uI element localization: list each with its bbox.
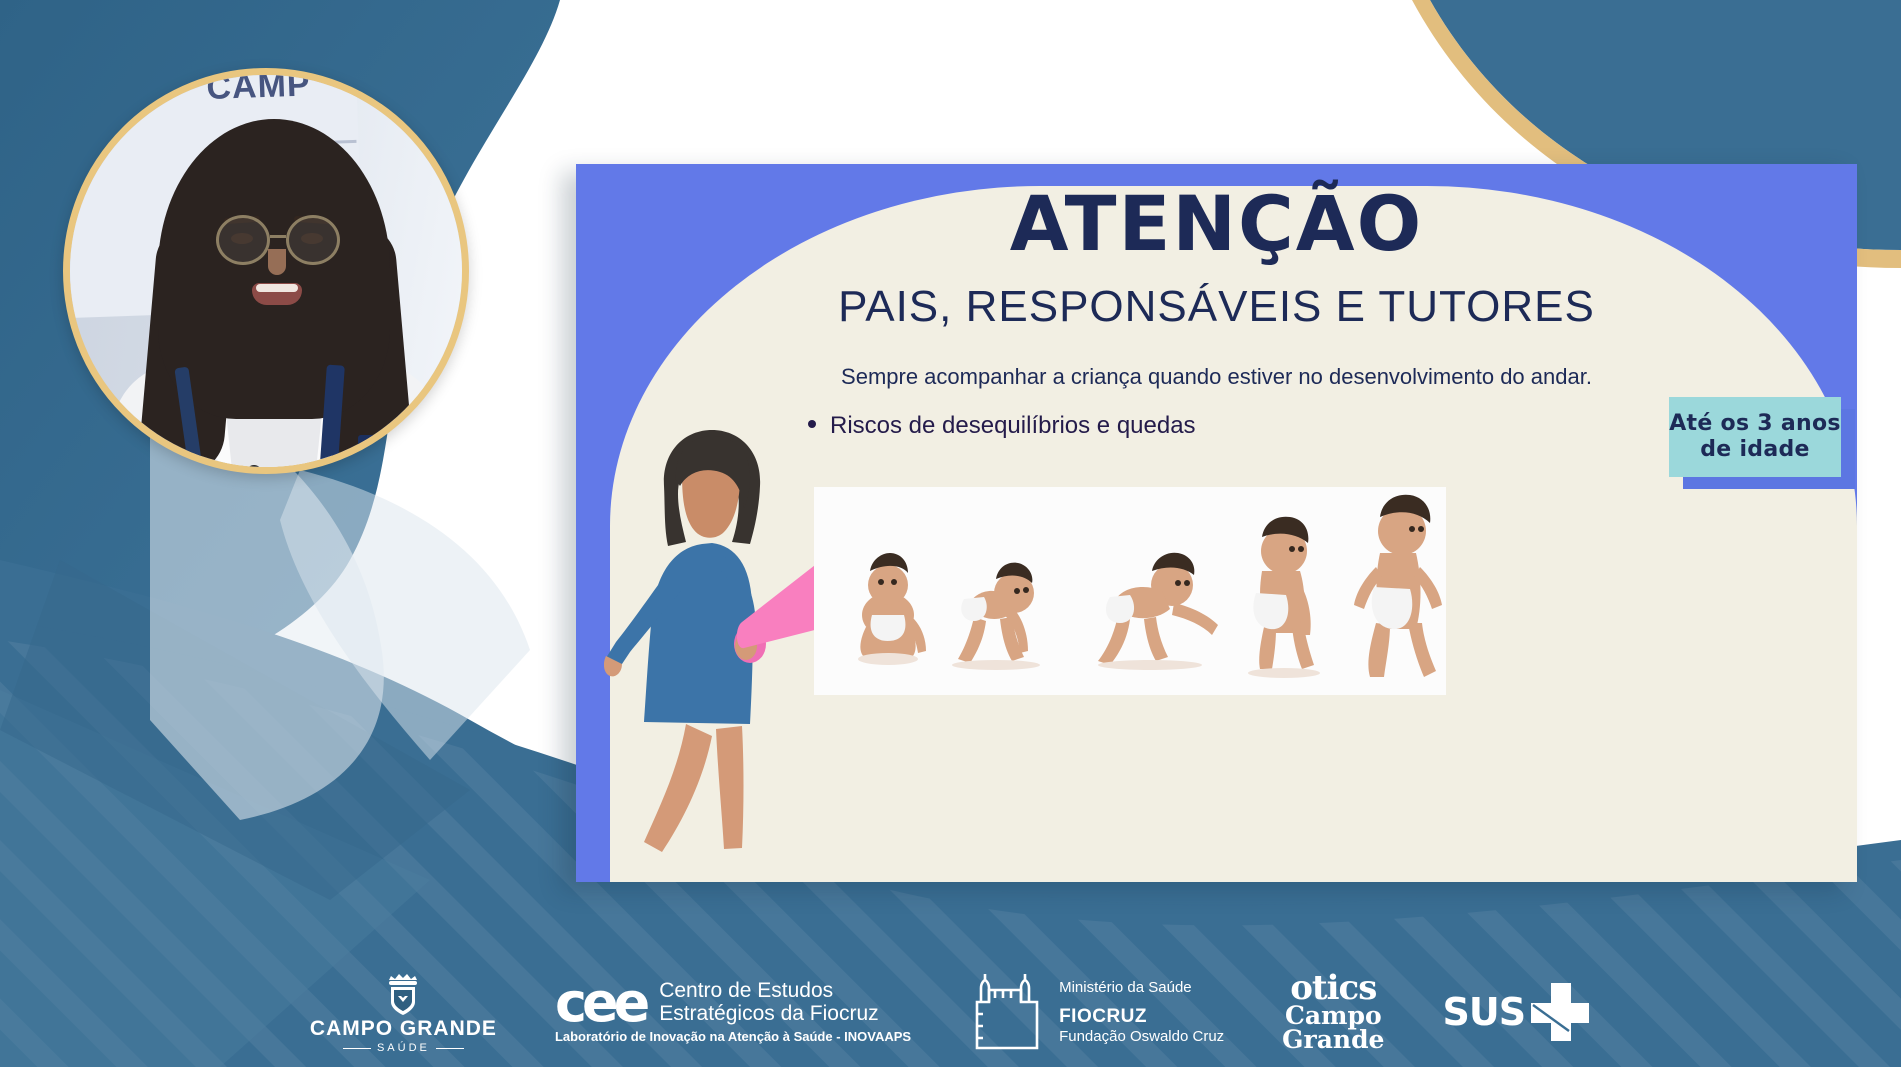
presentation-slide[interactable]: ATENÇÃO PAIS, RESPONSÁVEIS E TUTORES Sem… bbox=[576, 164, 1857, 882]
logo-otics-campo-grande: otics Campo Grande bbox=[1282, 972, 1384, 1052]
slide-body-text: Sempre acompanhar a criança quando estiv… bbox=[576, 364, 1857, 390]
cee-text: Centro de Estudos Estratégicos da Fiocru… bbox=[659, 980, 878, 1025]
fiocruz-name: FIOCRUZ bbox=[1059, 1006, 1224, 1028]
logo-campo-grande-saude: CAMPO GRANDE SAÚDE bbox=[310, 970, 497, 1054]
cee-top-row: cee Centro de Estudos Estratégicos da Fi… bbox=[555, 980, 879, 1025]
otics-line3: Grande bbox=[1282, 1028, 1384, 1052]
footer-logo-bar: CAMPO GRANDE SAÚDE cee Centro de Estudos… bbox=[0, 957, 1901, 1067]
campo-grande-crest-icon bbox=[379, 970, 427, 1018]
logo-ministerio-fiocruz: Ministério da Saúde FIOCRUZ Fundação Osw… bbox=[969, 972, 1224, 1052]
slide-title: ATENÇÃO bbox=[576, 186, 1857, 262]
slide-subtitle: PAIS, RESPONSÁVEIS E TUTORES bbox=[576, 282, 1857, 332]
cee-sub: Laboratório de Inovação na Atenção à Saú… bbox=[555, 1029, 911, 1044]
glasses-lens-right-icon bbox=[286, 215, 340, 265]
presenter-teeth bbox=[256, 284, 298, 292]
logo-sus: SUS bbox=[1442, 981, 1591, 1043]
presenter-nose bbox=[268, 249, 286, 275]
slide-bullet-label: Riscos de desequilíbrios e quedas bbox=[830, 412, 1196, 439]
webcam-video-frame: CAMP bbox=[70, 75, 462, 467]
age-badge-line2: de idade bbox=[1669, 437, 1841, 463]
age-badge-line1: Até os 3 anos bbox=[1669, 411, 1841, 437]
sus-wordmark: SUS bbox=[1442, 990, 1525, 1034]
sus-cross-icon bbox=[1529, 981, 1591, 1043]
campo-grande-name: CAMPO GRANDE bbox=[310, 1018, 497, 1039]
age-badge-content: Até os 3 anos de idade bbox=[1669, 397, 1841, 477]
fiocruz-sub: Fundação Oswaldo Cruz bbox=[1059, 1028, 1224, 1045]
baby-development-photo bbox=[814, 487, 1446, 695]
cee-line1: Centro de Estudos bbox=[659, 980, 878, 1003]
webcam-background-text: CAMP bbox=[206, 75, 311, 108]
campo-grande-sub: SAÚDE bbox=[377, 1042, 430, 1054]
fiocruz-text-block: Ministério da Saúde FIOCRUZ Fundação Osw… bbox=[1059, 979, 1224, 1045]
cee-wordmark: cee bbox=[555, 981, 645, 1024]
fiocruz-castle-icon bbox=[969, 972, 1045, 1052]
age-badge: Até os 3 anos de idade bbox=[1669, 397, 1855, 489]
ministry-label: Ministério da Saúde bbox=[1059, 979, 1224, 996]
presenter-webcam-circle[interactable]: CAMP bbox=[63, 68, 469, 474]
presenter-id-badge bbox=[358, 435, 384, 467]
glasses-bridge-icon bbox=[270, 235, 286, 238]
logo-cee-fiocruz: cee Centro de Estudos Estratégicos da Fi… bbox=[555, 980, 911, 1043]
cee-line2: Estratégicos da Fiocruz bbox=[659, 1003, 878, 1026]
otics-line1: otics bbox=[1290, 972, 1376, 1004]
glasses-lens-left-icon bbox=[216, 215, 270, 265]
